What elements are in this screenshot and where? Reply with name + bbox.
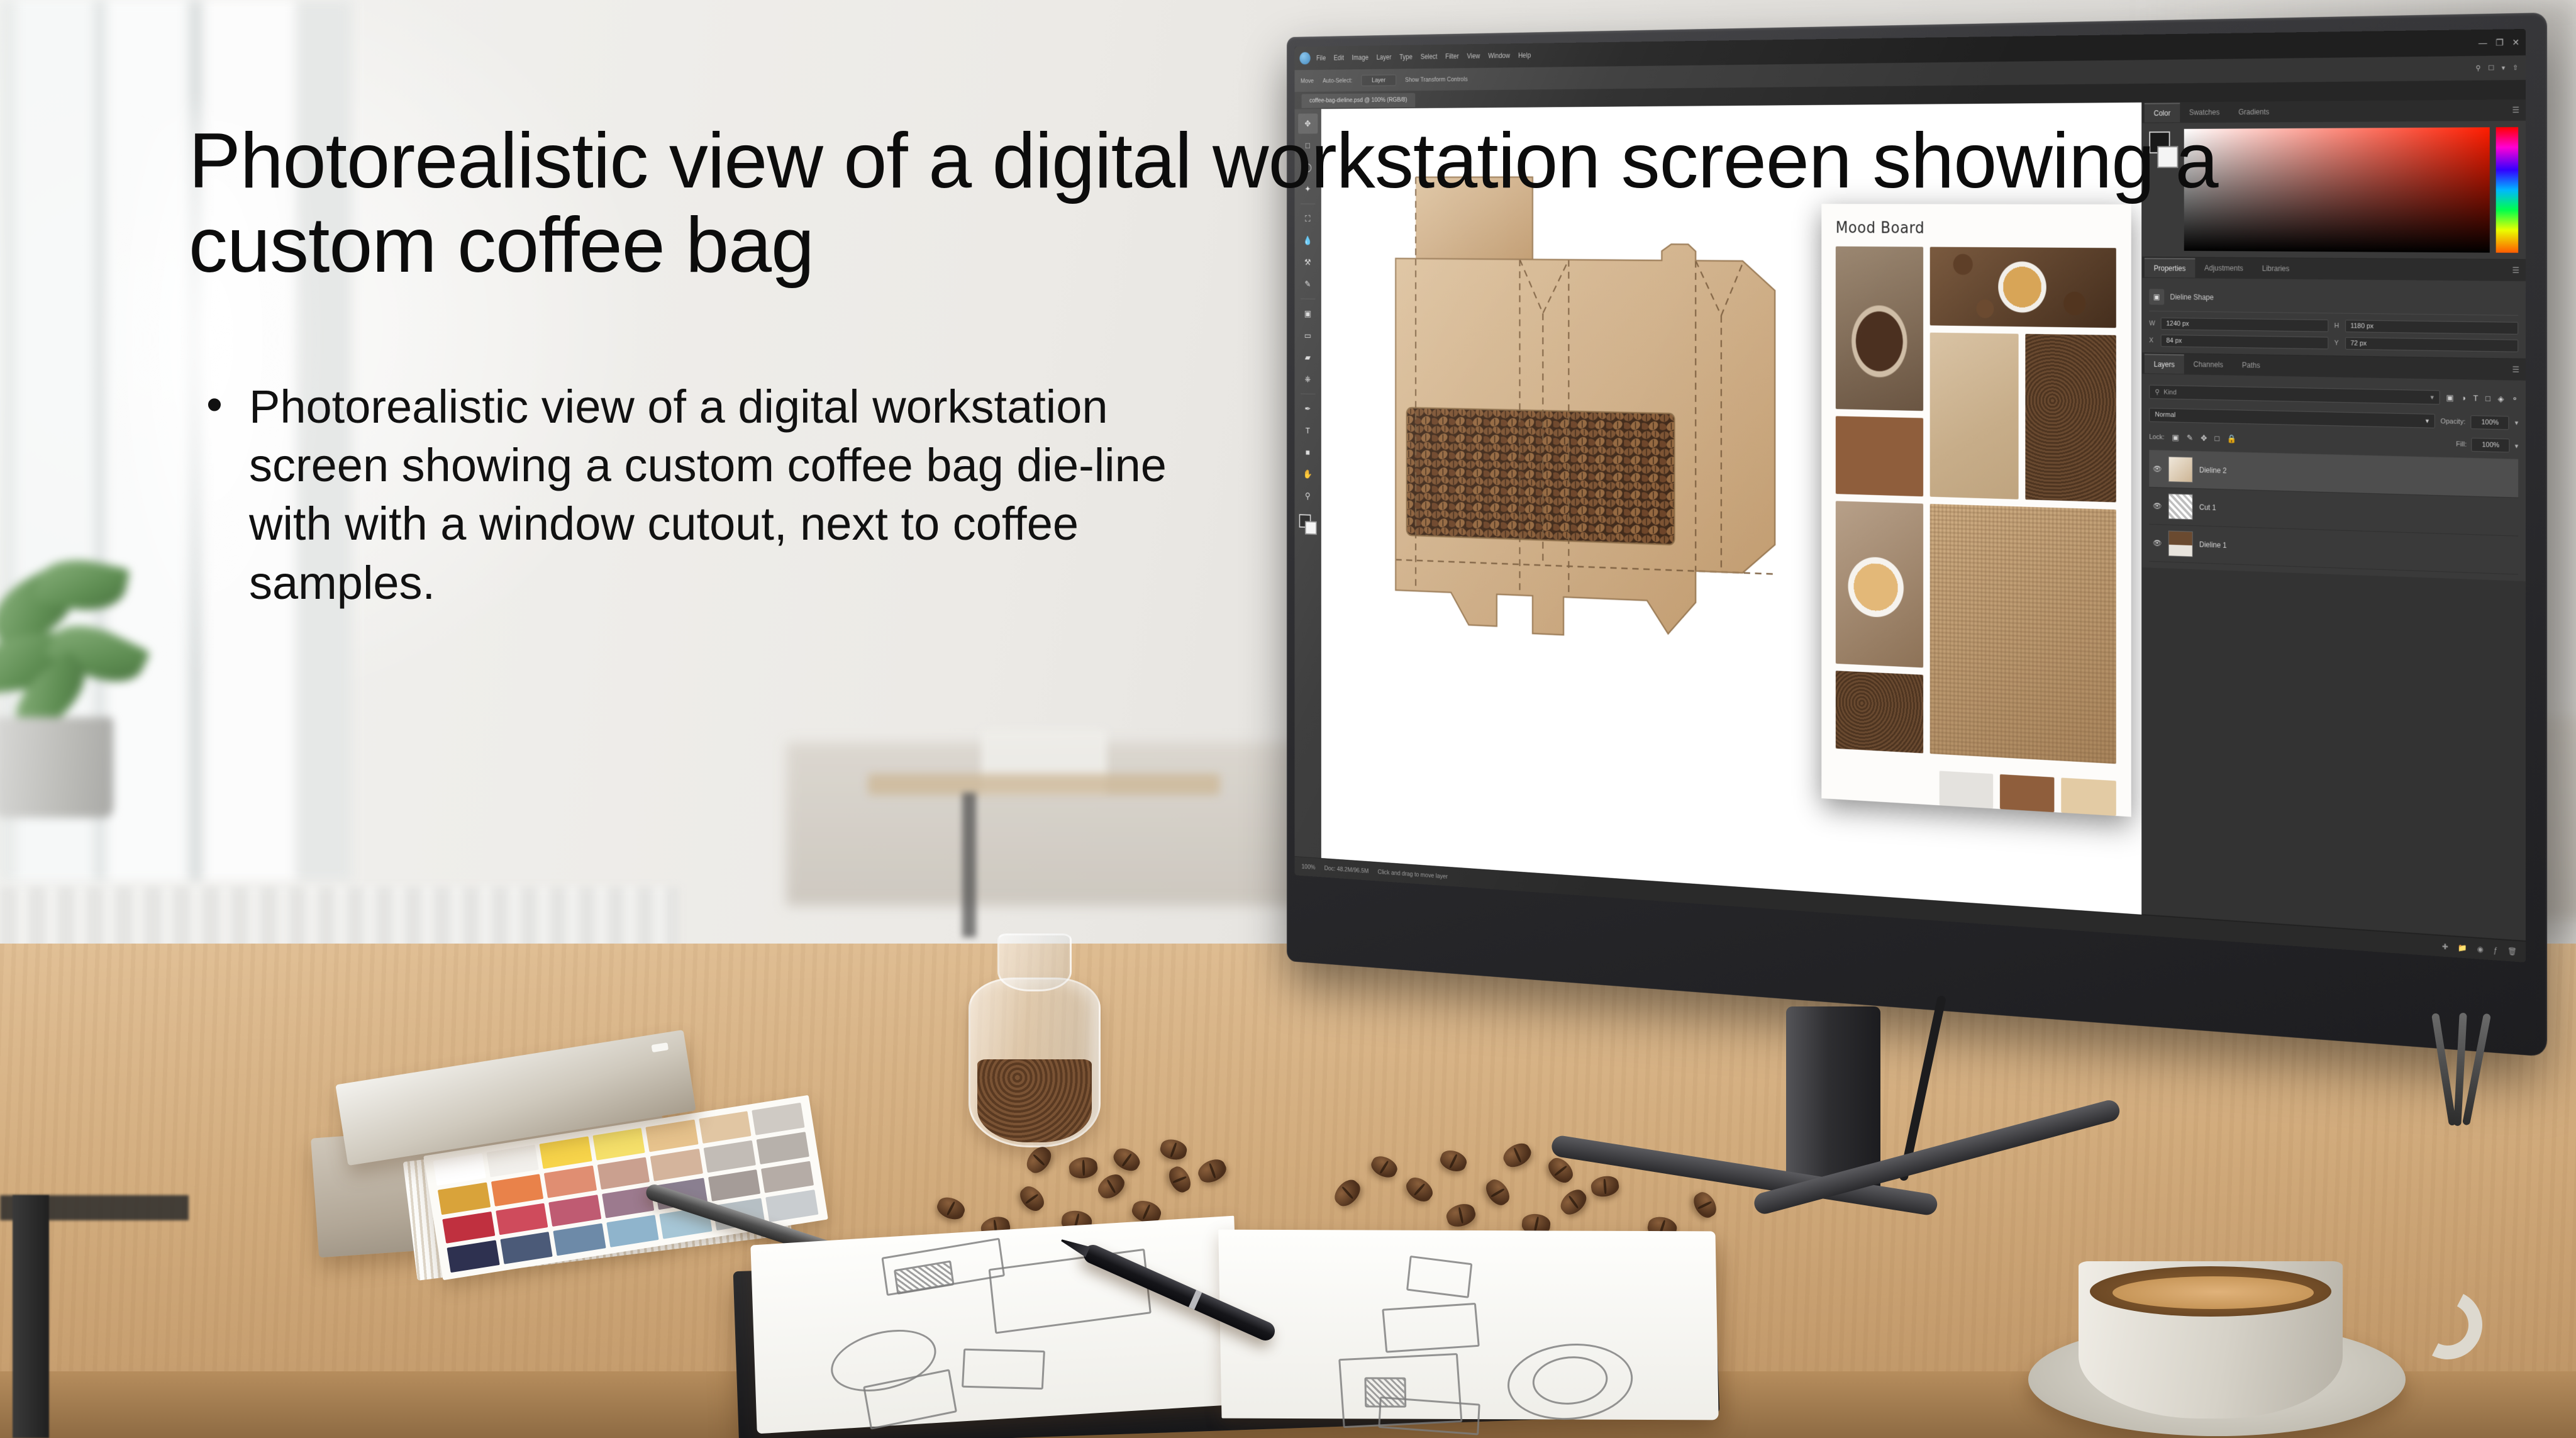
status-hint: Click and drag to move layer xyxy=(1378,868,1448,880)
fill-value[interactable]: 100% xyxy=(2472,438,2510,452)
eye-icon[interactable]: 👁 xyxy=(2153,464,2162,473)
mood-swatch-brown xyxy=(2000,774,2054,812)
cup-crema xyxy=(2112,1276,2314,1309)
adjustment-filter-icon[interactable]: ◑ xyxy=(2461,393,2466,403)
layer-filter-kind: Kind xyxy=(2163,389,2176,396)
restore-icon[interactable]: ❐ xyxy=(2495,38,2503,47)
lock-transparent-icon[interactable]: ▣ xyxy=(2172,433,2179,443)
prop-input-h[interactable]: 1180 px xyxy=(2345,320,2518,334)
opacity-value[interactable]: 100% xyxy=(2471,415,2509,430)
share-icon[interactable]: ⇧ xyxy=(2512,64,2518,72)
fill-group: Fill: 100% ▾ xyxy=(2456,437,2518,452)
app-menubar[interactable]: File Edit Image Layer Type Select Filter… xyxy=(1316,52,1531,62)
mood-board-grid xyxy=(1836,247,2116,772)
mood-image-burlap-sack xyxy=(1929,504,2116,764)
options-right-icons: ⚲ ☐ ▾ ⇧ xyxy=(2476,64,2519,72)
options-transform-label[interactable]: Show Transform Controls xyxy=(1405,75,1468,83)
layer-filter-icons: ▣ ◑ T □ ◈ ⚬ xyxy=(2446,393,2518,404)
potted-plant xyxy=(0,554,170,818)
sketchbook xyxy=(736,1220,1755,1438)
chevron-down-icon: ▾ xyxy=(2426,417,2429,425)
mood-color-block-brown xyxy=(1836,416,1923,496)
prop-input-w[interactable]: 1240 px xyxy=(2161,318,2328,332)
chevron-down-icon[interactable]: ▾ xyxy=(2431,393,2434,401)
mood-image-ground-coffee xyxy=(1836,671,1923,753)
panel-menu-icon[interactable]: ☰ xyxy=(2512,105,2520,115)
page-title: Photorealistic view of a digital worksta… xyxy=(189,120,2264,288)
carafe-coffee-grounds xyxy=(977,1059,1092,1142)
mood-image-latte-cup xyxy=(1836,501,1923,667)
tab-paths[interactable]: Paths xyxy=(2233,356,2270,375)
pencil-holder xyxy=(2434,994,2509,1126)
sketch-label xyxy=(962,1349,1045,1390)
workspace-icon[interactable]: ☐ xyxy=(2488,64,2494,72)
blend-mode-value: Normal xyxy=(2155,411,2175,419)
options-tool-label: Move xyxy=(1301,77,1314,84)
layer-name: Dieline 1 xyxy=(2199,540,2227,550)
toggle-filter-icon[interactable]: ⚬ xyxy=(2511,394,2518,404)
blur-tool-icon[interactable]: ⎈ xyxy=(1298,369,1318,389)
prop-label-y: Y xyxy=(2334,340,2340,347)
titlebar-controls: — ❐ ✕ xyxy=(2479,38,2519,47)
lock-label: Lock: xyxy=(2149,433,2164,441)
menu-item-type[interactable]: Type xyxy=(1399,53,1413,61)
menu-item-help[interactable]: Help xyxy=(1518,52,1531,60)
layers-panel: Layers Channels Paths ☰ ⚲ Kind ▾ xyxy=(2142,353,2526,941)
tab-layers[interactable]: Layers xyxy=(2145,354,2184,374)
mood-image-grounds-bowl xyxy=(2026,334,2116,503)
mood-swatch-tan xyxy=(2061,778,2116,816)
menu-item-file[interactable]: File xyxy=(1316,54,1326,62)
menu-item-filter[interactable]: Filter xyxy=(1445,52,1458,60)
layer-thumbnail xyxy=(2168,494,2193,520)
opacity-label: Opacity: xyxy=(2441,418,2465,426)
search-icon[interactable]: ⚲ xyxy=(2476,64,2481,72)
prop-label-x: X xyxy=(2149,337,2155,344)
zoom-tool-icon[interactable]: ⚲ xyxy=(1298,486,1318,506)
background-swatch[interactable] xyxy=(1305,521,1317,535)
gradient-tool-icon[interactable]: ▰ xyxy=(1298,347,1318,368)
stamp-tool-icon[interactable]: ▣ xyxy=(1298,304,1318,324)
mask-icon[interactable]: ◉ xyxy=(2477,944,2484,954)
sketchbook-page-left xyxy=(750,1216,1240,1434)
blend-mode-select[interactable]: Normal ▾ xyxy=(2149,408,2435,428)
minimize-icon[interactable]: — xyxy=(2479,38,2487,47)
status-right-icons: ✚ 📁 ◉ ƒ 🗑 xyxy=(2442,942,2517,956)
menu-item-image[interactable]: Image xyxy=(1352,53,1368,62)
side-table-leg xyxy=(962,793,976,937)
mood-board-swatch-row xyxy=(1836,765,2116,816)
prop-input-x[interactable]: 84 px xyxy=(2161,335,2328,349)
app-logo-icon xyxy=(1299,52,1310,65)
menu-item-edit[interactable]: Edit xyxy=(1334,54,1344,62)
properties-doc-type: Dieline Shape xyxy=(2170,293,2213,301)
coffee-cup xyxy=(2079,1261,2343,1418)
search-icon: ⚲ xyxy=(2155,388,2159,396)
mood-image-kraft-texture xyxy=(1929,333,2019,499)
panel-menu-icon[interactable]: ☰ xyxy=(2512,265,2520,276)
shape-tool-icon[interactable]: ■ xyxy=(1298,442,1318,463)
mood-swatch-light xyxy=(1940,771,1993,808)
pen-tool-icon[interactable]: ✒ xyxy=(1298,398,1318,419)
carafe-neck xyxy=(997,934,1072,991)
sketch-caption-block xyxy=(1378,1396,1480,1435)
prop-label-w: W xyxy=(2149,320,2155,327)
prop-label-h: H xyxy=(2334,322,2340,330)
menu-item-select[interactable]: Select xyxy=(1421,53,1438,61)
eraser-tool-icon[interactable]: ▭ xyxy=(1298,325,1318,345)
chevron-down-icon[interactable]: ▾ xyxy=(2502,64,2505,72)
menu-item-layer[interactable]: Layer xyxy=(1377,53,1392,62)
properties-panel-body: ▣ Dieline Shape W 1240 px H 1180 px X 84… xyxy=(2142,278,2526,359)
panel-menu-icon[interactable]: ☰ xyxy=(2512,365,2520,375)
properties-fields: W 1240 px H 1180 px X 84 px Y 72 px xyxy=(2149,311,2518,352)
coffee-cup-set xyxy=(2028,1249,2443,1437)
status-doc-info: Doc: 48.2M/96.5M xyxy=(1324,865,1369,875)
layer-thumbnail xyxy=(2168,457,2193,483)
sketch-pouch xyxy=(1382,1303,1480,1353)
bullet-item: Photorealistic view of a digital worksta… xyxy=(195,377,1214,612)
chevron-down-icon[interactable]: ▾ xyxy=(2515,442,2518,450)
color-swatch-tool[interactable] xyxy=(1298,513,1318,536)
options-autoselect-label: Auto-Select: xyxy=(1323,77,1352,84)
sketch-small-box xyxy=(1406,1256,1472,1298)
glass-carafe xyxy=(962,931,1107,1151)
folder-icon[interactable]: 📁 xyxy=(2458,943,2468,952)
layer-name: Dieline 2 xyxy=(2199,465,2227,475)
eye-icon[interactable]: 👁 xyxy=(2153,501,2162,510)
type-filter-icon[interactable]: T xyxy=(2473,393,2479,403)
tab-gradients[interactable]: Gradients xyxy=(2229,103,2279,121)
desk-leg xyxy=(13,1195,49,1438)
hand-tool-icon[interactable]: ✋ xyxy=(1298,464,1318,484)
fx-icon[interactable]: ƒ xyxy=(2494,945,2498,954)
options-layer-select[interactable]: Layer xyxy=(1361,74,1396,86)
type-tool-icon[interactable]: T xyxy=(1298,420,1318,441)
sketchbook-page-right xyxy=(1218,1230,1718,1420)
lock-paint-icon[interactable]: ✎ xyxy=(2187,433,2193,443)
shape-filter-icon[interactable]: □ xyxy=(2485,393,2490,403)
status-zoom[interactable]: 100% xyxy=(1302,863,1316,871)
layers-panel-body: ⚲ Kind ▾ ▣ ◑ T □ ◈ ⚬ xyxy=(2142,374,2526,581)
menu-item-window[interactable]: Window xyxy=(1488,52,1510,60)
lock-icons: ▣ ✎ ✥ □ 🔒 xyxy=(2172,433,2237,444)
fill-label: Fill: xyxy=(2456,440,2467,448)
tab-channels[interactable]: Channels xyxy=(2184,355,2233,374)
tool-divider xyxy=(1301,299,1315,299)
layer-thumbnail xyxy=(2168,531,2193,557)
menu-item-view[interactable]: View xyxy=(1467,52,1480,60)
smart-filter-icon[interactable]: ◈ xyxy=(2498,394,2504,404)
prop-input-y[interactable]: 72 px xyxy=(2345,337,2518,352)
layer-filter-box[interactable]: ⚲ Kind ▾ xyxy=(2149,385,2440,404)
close-icon[interactable]: ✕ xyxy=(2512,38,2520,47)
lock-position-icon[interactable]: ✥ xyxy=(2201,433,2207,443)
slide-body: Photorealistic view of a digital worksta… xyxy=(195,377,1214,612)
mood-board-panel[interactable]: Mood Board xyxy=(1821,204,2131,817)
new-layer-icon[interactable]: ✚ xyxy=(2442,942,2448,951)
tool-divider xyxy=(1301,394,1315,394)
lock-all-icon[interactable]: 🔒 xyxy=(2227,434,2236,444)
layer-name: Cut 1 xyxy=(2199,503,2216,512)
eye-icon[interactable]: 👁 xyxy=(2153,538,2162,547)
hue-slider[interactable] xyxy=(2496,127,2518,253)
chevron-down-icon[interactable]: ▾ xyxy=(2515,419,2518,427)
pixel-filter-icon[interactable]: ▣ xyxy=(2446,393,2453,403)
lock-artboard-icon[interactable]: □ xyxy=(2215,434,2219,444)
trash-icon[interactable]: 🗑 xyxy=(2507,946,2517,956)
shape-properties-icon: ▣ xyxy=(2149,289,2164,304)
slide-canvas: File Edit Image Layer Type Select Filter… xyxy=(0,0,2576,1438)
properties-header: ▣ Dieline Shape xyxy=(2149,284,2518,315)
document-tab[interactable]: coffee-bag-dieline.psd @ 100% (RGB/8) xyxy=(1302,92,1416,108)
